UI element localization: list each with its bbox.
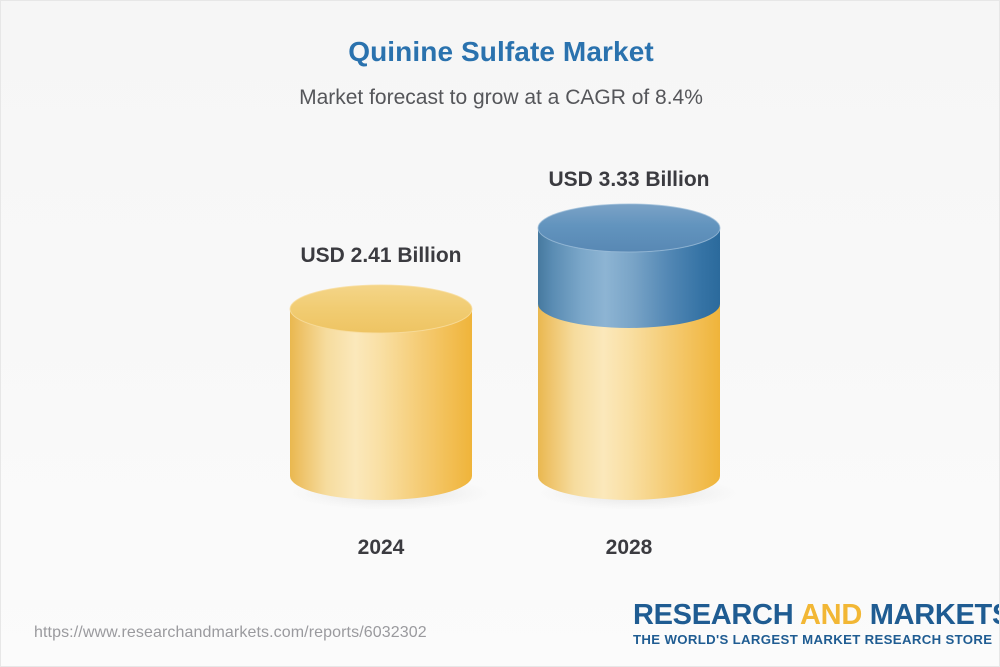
bar-year-label-2028: 2028 [498, 535, 760, 561]
logo-word-markets: MARKETS [870, 599, 1000, 631]
research-and-markets-logo[interactable]: RESEARCH AND MARKETS THE WORLD'S LARGEST… [633, 599, 981, 648]
logo-word-and: AND [800, 599, 870, 631]
logo-tagline: THE WORLD'S LARGEST MARKET RESEARCH STOR… [633, 632, 981, 648]
cylinder-2024-svg [290, 285, 472, 513]
bar-value-label-2024: USD 2.41 Billion [250, 243, 512, 269]
cylinder-body [290, 309, 472, 500]
cylinder-base-segment [538, 304, 720, 500]
cylinder-2028-svg [538, 204, 720, 513]
logo-word-research: RESEARCH [633, 599, 800, 631]
source-url[interactable]: https://www.researchandmarkets.com/repor… [34, 623, 427, 643]
bar-year-label-2024: 2024 [250, 535, 512, 561]
chart-plot-area: USD 2.41 Billion [1, 1, 1000, 667]
cylinder-2024 [290, 285, 472, 513]
cylinder-2028 [538, 204, 720, 513]
bar-value-label-2028: USD 3.33 Billion [498, 167, 760, 193]
logo-wordmark: RESEARCH AND MARKETS [633, 599, 981, 631]
infographic-canvas: Quinine Sulfate Market Market forecast t… [0, 0, 1000, 667]
